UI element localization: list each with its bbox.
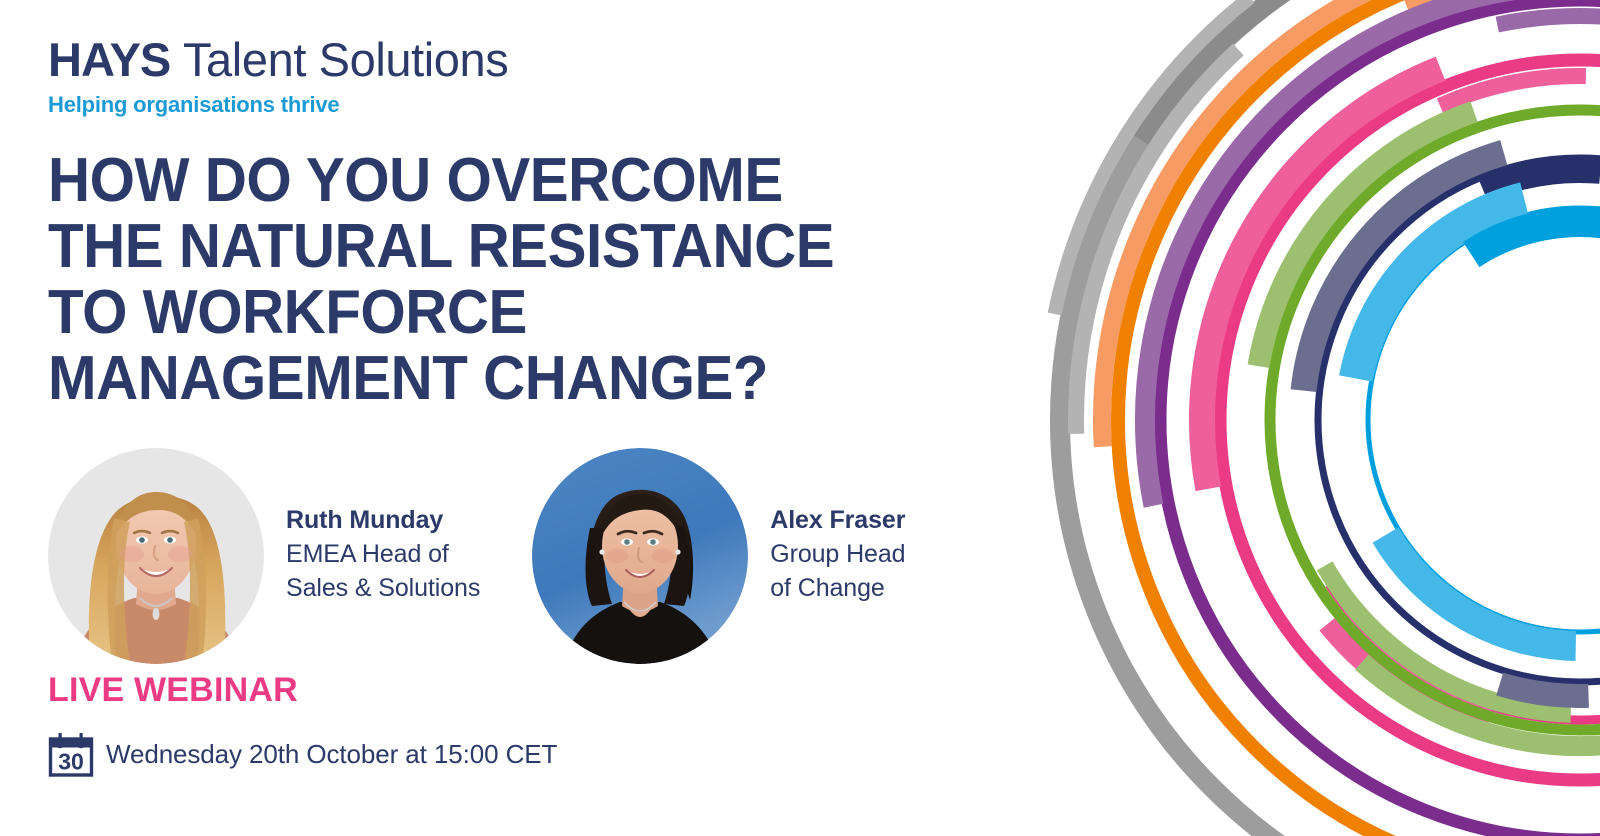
brand-tagline: Helping organisations thrive [48,92,748,118]
speaker-name: Ruth Munday [286,503,480,537]
speaker-role-line-1: EMEA Head of [286,537,480,571]
speaker-role-line-2: of Change [770,571,905,605]
brand-spectrum-graphic [940,0,1600,836]
logo-wordmark: HAYS Talent Solutions [48,34,748,86]
logo-talent-solutions-text: Talent Solutions [183,33,508,86]
svg-text:30: 30 [58,749,84,775]
speaker-role-line-2: Sales & Solutions [286,571,480,605]
logo-hays-text: HAYS [48,33,170,86]
logo-spacer [170,33,183,86]
speaker-role-line-1: Group Head [770,537,905,571]
event-date-row: 30 Wednesday 20th October at 15:00 CET [48,731,557,777]
speaker-card-alex-fraser: Alex Fraser Group Head of Change [532,448,905,664]
page-title: HOW DO YOU OVERCOME THE NATURAL RESISTAN… [48,148,988,412]
calendar-icon: 30 [48,731,94,777]
speaker-card-ruth-munday: Ruth Munday EMEA Head of Sales & Solutio… [48,448,480,664]
speaker-name: Alex Fraser [770,503,905,537]
speaker-list: Ruth Munday EMEA Head of Sales & Solutio… [48,448,905,664]
webinar-promo-canvas: HAYS Talent Solutions Helping organisati… [0,0,1600,836]
headline-line-3: TO WORKFORCE [48,280,932,346]
headline-line-2: THE NATURAL RESISTANCE [48,214,932,280]
event-date-text: Wednesday 20th October at 15:00 CET [106,738,557,770]
avatar-alex-fraser [532,448,748,664]
avatar-ruth-munday [48,448,264,664]
speaker-text-alex-fraser: Alex Fraser Group Head of Change [770,503,905,609]
headline-line-1: HOW DO YOU OVERCOME [48,148,932,214]
status-badge: LIVE WEBINAR [48,670,298,710]
speaker-text-ruth-munday: Ruth Munday EMEA Head of Sales & Solutio… [286,503,480,609]
brand-logo: HAYS Talent Solutions Helping organisati… [48,34,748,118]
headline-line-4: MANAGEMENT CHANGE? [48,346,932,412]
